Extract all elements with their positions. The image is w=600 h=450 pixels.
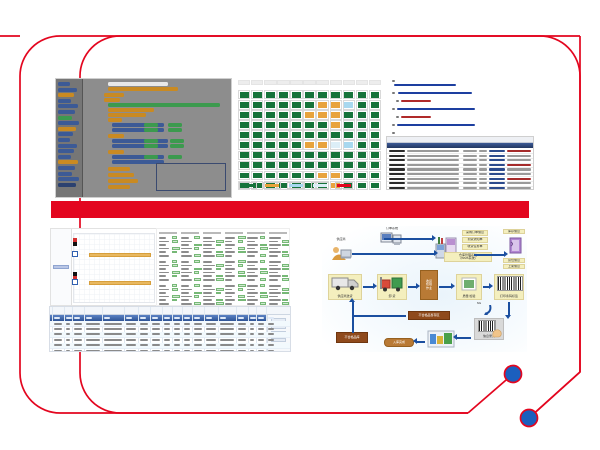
report-field-value[interactable] [194, 302, 201, 305]
report-form-grid[interactable] [156, 228, 290, 306]
table-cell[interactable] [74, 344, 82, 346]
status-grid-cell[interactable] [264, 120, 276, 129]
report-field-value[interactable] [194, 268, 202, 271]
report-field-value[interactable] [238, 264, 243, 267]
status-grid-cell[interactable] [277, 130, 289, 139]
status-grid-cell[interactable] [369, 161, 381, 170]
node-complete[interactable]: 入库完成 [384, 338, 414, 347]
table-cell[interactable] [152, 323, 160, 325]
report-field-value[interactable] [282, 251, 288, 254]
report-field-value[interactable] [216, 288, 224, 291]
table-cell[interactable] [152, 333, 160, 335]
code-block[interactable] [108, 103, 220, 107]
node-order-list-1[interactable]: 采购订单信息 [462, 230, 488, 236]
table-cell[interactable] [104, 333, 122, 335]
node-order-list-2[interactable]: 到货通知单 [462, 237, 488, 243]
status-grid-cell[interactable] [238, 100, 250, 109]
palette-block[interactable] [58, 116, 72, 120]
table-cell[interactable] [54, 328, 62, 330]
status-grid-cell[interactable] [356, 100, 368, 109]
table-cell[interactable] [126, 323, 136, 325]
table-cell[interactable] [174, 333, 180, 335]
table-cell[interactable] [238, 350, 246, 352]
table-cell[interactable] [74, 323, 82, 325]
table-cell[interactable] [140, 344, 148, 346]
report-field-value[interactable] [216, 278, 224, 281]
table-cell[interactable] [164, 344, 170, 346]
status-grid-cell[interactable] [290, 120, 302, 129]
report-field-value[interactable] [260, 284, 265, 287]
report-field-value[interactable] [260, 236, 265, 239]
schedule-grid[interactable] [73, 233, 155, 303]
code-block-value[interactable] [168, 123, 182, 127]
palette-block[interactable] [58, 144, 77, 148]
palette-block[interactable] [58, 183, 76, 187]
status-grid-cell[interactable] [238, 130, 250, 139]
schedule-bar[interactable] [89, 281, 151, 285]
table-cell[interactable] [268, 344, 274, 346]
status-grid-cell[interactable] [369, 110, 381, 119]
status-grid-cell[interactable] [238, 110, 250, 119]
table-cell[interactable] [140, 323, 148, 325]
report-field-value[interactable] [260, 302, 266, 305]
table-cell[interactable] [140, 350, 148, 352]
status-grid-cell[interactable] [316, 151, 328, 160]
schedule-gantt-view[interactable] [50, 228, 158, 306]
status-grid-cell[interactable] [343, 90, 355, 99]
code-block[interactable] [108, 87, 178, 91]
table-cell[interactable] [206, 344, 216, 346]
status-grid-cell[interactable] [264, 90, 276, 99]
table-cell[interactable] [104, 344, 122, 346]
node-db-item-3[interactable]: 上架信息 [503, 264, 525, 269]
status-grid-cell[interactable] [356, 140, 368, 149]
status-grid-cell[interactable] [303, 90, 315, 99]
data-table-header-cell[interactable] [250, 317, 256, 319]
table-cell[interactable] [220, 350, 234, 352]
table-cell[interactable] [206, 333, 216, 335]
status-grid-cell[interactable] [330, 90, 342, 99]
log-output-console[interactable] [386, 136, 534, 190]
report-field-value[interactable] [282, 299, 288, 302]
status-grid-cell[interactable] [356, 171, 368, 180]
palette-block[interactable] [58, 93, 74, 97]
table-cell[interactable] [104, 323, 122, 325]
node-reject-area[interactable]: 不合格品暂存区 [408, 311, 450, 320]
status-grid-cell[interactable] [356, 181, 368, 190]
status-grid-cell[interactable] [356, 90, 368, 99]
table-cell[interactable] [66, 350, 70, 352]
status-grid-cell[interactable] [316, 90, 328, 99]
status-grid-cell[interactable] [238, 90, 250, 99]
node-db-item-1[interactable]: 库存信息 [503, 229, 525, 234]
status-grid-cell[interactable] [290, 140, 302, 149]
code-block[interactable] [108, 82, 168, 86]
report-field-value[interactable] [194, 247, 199, 250]
report-field-value[interactable] [172, 275, 177, 278]
palette-block[interactable] [58, 110, 75, 114]
report-field-value[interactable] [194, 295, 199, 298]
code-block[interactable] [108, 185, 130, 189]
palette-block[interactable] [58, 121, 79, 125]
report-field-value[interactable] [260, 292, 267, 295]
report-field-value[interactable] [282, 244, 290, 247]
table-cell[interactable] [152, 344, 160, 346]
visual-blocks-editor[interactable] [55, 78, 232, 198]
status-grid-cell[interactable] [277, 140, 289, 149]
status-grid-cell[interactable] [343, 110, 355, 119]
table-cell[interactable] [194, 344, 202, 346]
status-grid-cell[interactable] [303, 161, 315, 170]
report-field-value[interactable] [194, 244, 202, 247]
table-cell[interactable] [220, 339, 234, 341]
report-field-value[interactable] [216, 275, 223, 278]
report-field-value[interactable] [172, 299, 177, 302]
report-field-value[interactable] [216, 244, 221, 247]
status-grid-cell[interactable] [303, 120, 315, 129]
status-grid-cell[interactable] [251, 171, 263, 180]
table-cell[interactable] [174, 339, 180, 341]
report-field-value[interactable] [282, 275, 288, 278]
report-field-value[interactable] [282, 292, 290, 295]
status-grid-cell[interactable] [330, 140, 342, 149]
report-field-value[interactable] [282, 278, 289, 281]
code-block[interactable] [108, 150, 124, 154]
schedule-node-start[interactable] [72, 251, 78, 257]
table-cell[interactable] [126, 339, 136, 341]
report-field-value[interactable] [260, 278, 266, 281]
palette-block[interactable] [58, 166, 75, 170]
table-cell[interactable] [220, 344, 234, 346]
table-cell[interactable] [174, 328, 180, 330]
node-inspection-desk[interactable]: 收货 检验 作业 [420, 270, 438, 300]
status-grid-cell[interactable] [303, 151, 315, 160]
node-db-item-2[interactable]: 货位信息 [503, 258, 525, 263]
status-grid-cell[interactable] [264, 130, 276, 139]
report-field-value[interactable] [216, 264, 224, 267]
table-cell[interactable] [258, 344, 264, 346]
table-cell[interactable] [54, 350, 62, 352]
code-block[interactable] [108, 113, 146, 117]
table-cell[interactable] [126, 344, 136, 346]
status-grid-cell[interactable] [316, 140, 328, 149]
table-cell[interactable] [74, 339, 82, 341]
code-block-value[interactable] [170, 139, 184, 143]
status-grid-cell[interactable] [330, 120, 342, 129]
report-field-value[interactable] [238, 260, 246, 263]
table-cell[interactable] [74, 350, 82, 352]
report-field-value[interactable] [282, 302, 289, 305]
code-block[interactable] [104, 98, 120, 102]
palette-block[interactable] [58, 104, 78, 108]
code-block[interactable] [108, 108, 154, 112]
report-field-value[interactable] [172, 247, 180, 250]
blocks-selection-box[interactable] [156, 163, 226, 191]
table-cell[interactable] [164, 323, 170, 325]
status-grid-cell[interactable] [343, 100, 355, 109]
table-cell[interactable] [66, 323, 70, 325]
code-block-value[interactable] [170, 144, 184, 148]
table-cell[interactable] [104, 339, 122, 341]
status-grid-cell[interactable] [330, 151, 342, 160]
table-cell[interactable] [104, 350, 122, 352]
status-grid-cell[interactable] [277, 100, 289, 109]
table-cell[interactable] [184, 328, 190, 330]
table-cell[interactable] [194, 323, 202, 325]
status-grid-cell[interactable] [303, 110, 315, 119]
status-grid-cell[interactable] [316, 171, 328, 180]
table-cell[interactable] [164, 339, 170, 341]
report-field-value[interactable] [194, 278, 201, 281]
table-cell[interactable] [86, 328, 100, 330]
report-field-value[interactable] [238, 295, 245, 298]
table-cell[interactable] [238, 323, 246, 325]
table-cell[interactable] [184, 350, 190, 352]
status-grid-cell[interactable] [343, 161, 355, 170]
palette-block[interactable] [58, 172, 72, 176]
status-grid-cell[interactable] [277, 110, 289, 119]
table-cell[interactable] [268, 339, 274, 341]
report-field-value[interactable] [172, 264, 178, 267]
report-field-value[interactable] [238, 271, 245, 274]
status-grid-cell[interactable] [369, 120, 381, 129]
palette-block[interactable] [58, 138, 70, 142]
status-grid-cell[interactable] [251, 140, 263, 149]
table-cell[interactable] [184, 339, 190, 341]
code-block[interactable] [108, 179, 138, 183]
table-cell[interactable] [66, 339, 70, 341]
table-cell[interactable] [86, 339, 100, 341]
table-cell[interactable] [194, 339, 202, 341]
status-grid-cell[interactable] [343, 171, 355, 180]
palette-block[interactable] [58, 177, 79, 181]
palette-block[interactable] [58, 149, 74, 153]
status-grid-cell[interactable] [290, 90, 302, 99]
status-grid-cell[interactable] [251, 100, 263, 109]
report-field-value[interactable] [216, 292, 221, 295]
report-field-value[interactable] [172, 236, 177, 239]
report-field-value[interactable] [260, 247, 268, 250]
status-grid-cell[interactable] [290, 130, 302, 139]
data-table-header-cell[interactable] [206, 317, 212, 319]
code-block-value[interactable] [144, 139, 158, 143]
schedule-side-chip[interactable] [53, 265, 69, 269]
report-field-value[interactable] [260, 271, 268, 274]
table-cell[interactable] [152, 339, 160, 341]
status-grid-cell[interactable] [264, 161, 276, 170]
status-grid-cell[interactable] [277, 161, 289, 170]
status-grid-cell[interactable] [369, 140, 381, 149]
status-grid-cell[interactable] [277, 151, 289, 160]
status-grid-cell[interactable] [277, 90, 289, 99]
code-block[interactable] [112, 139, 168, 143]
status-grid-cell[interactable] [330, 110, 342, 119]
report-field-value[interactable] [172, 251, 177, 254]
table-cell[interactable] [184, 344, 190, 346]
report-field-value[interactable] [260, 244, 267, 247]
report-field-value[interactable] [260, 260, 265, 263]
palette-block[interactable] [58, 132, 73, 136]
status-grid-cell[interactable] [316, 100, 328, 109]
report-field-value[interactable] [172, 271, 180, 274]
table-cell[interactable] [66, 333, 70, 335]
table-cell[interactable] [126, 350, 136, 352]
status-grid-cell[interactable] [356, 151, 368, 160]
report-field-value[interactable] [238, 284, 246, 287]
palette-block[interactable] [58, 82, 70, 86]
table-cell[interactable] [220, 333, 234, 335]
table-cell[interactable] [220, 323, 234, 325]
table-cell[interactable] [258, 339, 264, 341]
palette-block[interactable] [58, 99, 71, 103]
status-grid-cell[interactable] [251, 130, 263, 139]
table-cell[interactable] [238, 333, 246, 335]
report-field-value[interactable] [238, 288, 243, 291]
code-block-value[interactable] [168, 128, 182, 132]
table-cell[interactable] [258, 328, 264, 330]
code-block-value[interactable] [168, 155, 182, 159]
status-grid-cell[interactable] [238, 140, 250, 149]
table-cell[interactable] [268, 350, 274, 352]
code-block[interactable] [108, 173, 134, 177]
table-cell[interactable] [54, 323, 62, 325]
status-grid-cell[interactable] [356, 110, 368, 119]
status-grid-cell[interactable] [343, 130, 355, 139]
palette-block[interactable] [58, 160, 78, 164]
status-grid-cell[interactable] [330, 171, 342, 180]
table-cell[interactable] [194, 328, 202, 330]
table-cell[interactable] [258, 333, 264, 335]
report-field-value[interactable] [238, 275, 246, 278]
report-field-value[interactable] [282, 288, 289, 291]
schedule-node-start[interactable] [72, 279, 78, 285]
node-reject-stock[interactable]: 不合格品库 [336, 332, 368, 343]
table-cell[interactable] [54, 333, 62, 335]
data-table-toolbar[interactable] [50, 307, 290, 315]
report-field-value[interactable] [216, 240, 224, 243]
report-field-value[interactable] [194, 284, 200, 287]
report-field-value[interactable] [282, 240, 289, 243]
table-cell[interactable] [174, 323, 180, 325]
table-cell[interactable] [268, 333, 274, 335]
table-cell[interactable] [164, 333, 170, 335]
report-field-value[interactable] [216, 299, 223, 302]
status-grid-cell[interactable] [264, 140, 276, 149]
status-grid-cell[interactable] [238, 151, 250, 160]
table-cell[interactable] [140, 339, 148, 341]
table-cell[interactable] [140, 333, 148, 335]
table-cell[interactable] [250, 350, 254, 352]
report-field-value[interactable] [238, 299, 246, 302]
palette-block[interactable] [58, 155, 71, 159]
table-cell[interactable] [54, 344, 62, 346]
status-grid-cell[interactable] [290, 171, 302, 180]
status-grid-cell[interactable] [316, 130, 328, 139]
table-cell[interactable] [86, 350, 100, 352]
status-grid-cell[interactable] [251, 151, 263, 160]
log-row[interactable] [387, 186, 533, 190]
report-field-value[interactable] [194, 236, 200, 239]
report-field-value[interactable] [238, 240, 243, 243]
code-block[interactable] [108, 118, 122, 122]
code-block[interactable] [108, 134, 124, 138]
table-cell[interactable] [54, 339, 62, 341]
table-cell[interactable] [152, 328, 160, 330]
status-grid-cell[interactable] [238, 120, 250, 129]
status-grid-cell[interactable] [356, 161, 368, 170]
data-table-header-cell[interactable] [220, 317, 226, 319]
data-table-header-cell[interactable] [86, 317, 92, 319]
table-cell[interactable] [164, 328, 170, 330]
status-grid-cell[interactable] [251, 161, 263, 170]
status-grid-cell[interactable] [238, 161, 250, 170]
status-grid-cell[interactable] [330, 130, 342, 139]
report-field-value[interactable] [260, 295, 268, 298]
table-cell[interactable] [238, 328, 246, 330]
status-grid-cell[interactable] [330, 100, 342, 109]
report-field-value[interactable] [216, 251, 223, 254]
table-cell[interactable] [250, 328, 254, 330]
table-cell[interactable] [250, 344, 254, 346]
report-field-value[interactable] [194, 260, 200, 263]
code-block[interactable] [112, 144, 168, 148]
table-cell[interactable] [268, 328, 274, 330]
table-cell[interactable] [104, 328, 122, 330]
blocks-canvas[interactable] [84, 79, 231, 197]
status-grid-cell[interactable] [238, 171, 250, 180]
report-field-value[interactable] [172, 240, 178, 243]
data-table-header-cell[interactable] [104, 317, 110, 319]
table-cell[interactable] [140, 328, 148, 330]
code-block-value[interactable] [144, 128, 158, 132]
table-cell[interactable] [250, 323, 254, 325]
report-field-value[interactable] [260, 254, 266, 257]
status-grid-cell[interactable] [251, 90, 263, 99]
source-code-editor[interactable] [388, 78, 528, 136]
table-cell[interactable] [184, 323, 190, 325]
data-table-header-cell[interactable] [238, 317, 244, 319]
table-cell[interactable] [126, 333, 136, 335]
code-block-value[interactable] [144, 155, 158, 159]
status-grid-cell[interactable] [369, 130, 381, 139]
table-cell[interactable] [206, 350, 216, 352]
status-grid-cell[interactable] [356, 120, 368, 129]
data-table-header-cell[interactable] [174, 317, 180, 319]
status-grid-cell[interactable] [316, 110, 328, 119]
table-cell[interactable] [258, 350, 264, 352]
table-cell[interactable] [206, 323, 216, 325]
report-field-value[interactable] [282, 268, 290, 271]
status-grid-cell[interactable] [264, 100, 276, 109]
table-cell[interactable] [258, 323, 264, 325]
inventory-data-table[interactable] [49, 306, 291, 352]
code-block[interactable] [104, 93, 124, 97]
report-field-value[interactable] [282, 264, 289, 267]
status-grid-cell[interactable] [303, 140, 315, 149]
data-table-header-cell[interactable] [258, 317, 264, 319]
report-field-value[interactable] [194, 271, 199, 274]
report-field-value[interactable] [216, 254, 224, 257]
report-field-value[interactable] [216, 268, 221, 271]
data-table-header-cell[interactable] [54, 317, 60, 319]
status-grid-cell[interactable] [369, 171, 381, 180]
table-cell[interactable] [220, 328, 234, 330]
report-field-value[interactable] [172, 284, 177, 287]
data-table-header-cell[interactable] [152, 317, 158, 319]
report-field-value[interactable] [172, 295, 180, 298]
status-grid-cell[interactable] [251, 120, 263, 129]
data-table-header-cell[interactable] [268, 317, 274, 319]
